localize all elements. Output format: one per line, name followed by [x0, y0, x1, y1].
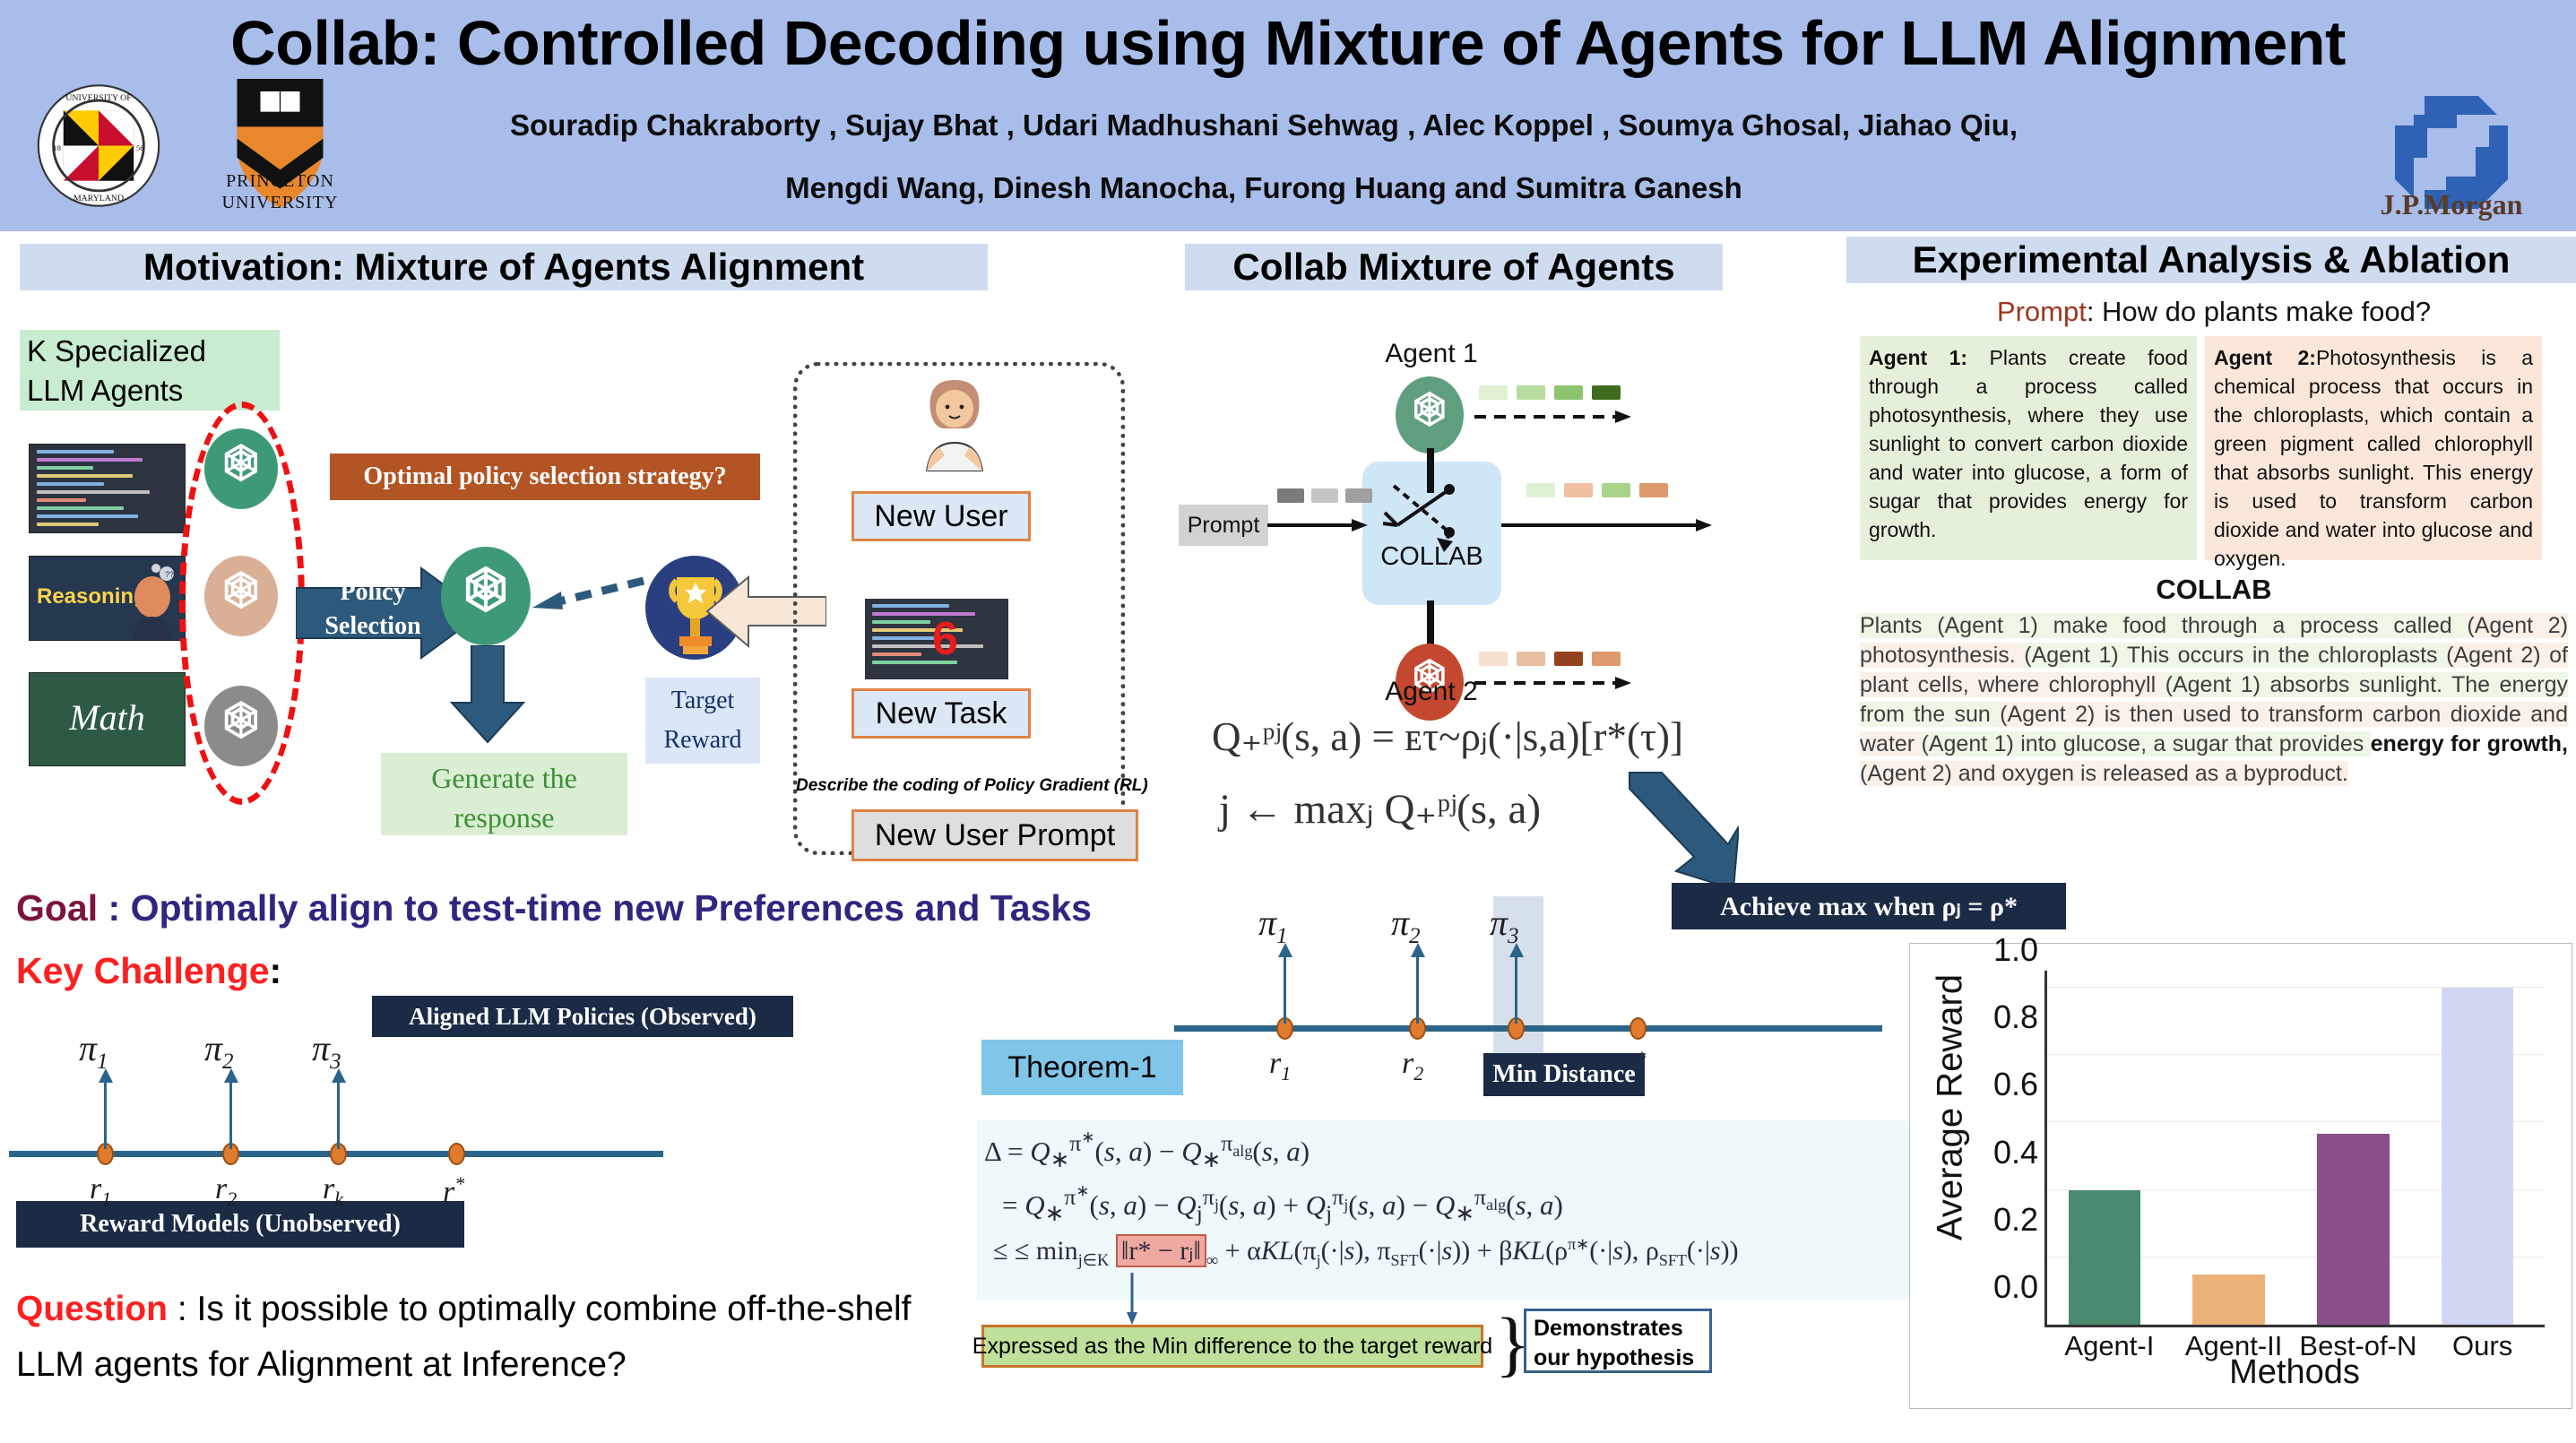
policy-selection-label: Policy Selection [301, 575, 445, 644]
theorem-line-3: ≤ ≤ minj∈K ‖r* − rⱼ‖∞ + αKL(πj(·|s), πSF… [993, 1235, 1739, 1271]
openai-glyph-icon [455, 563, 516, 624]
agent-logo-reasoning [204, 556, 278, 636]
router-switch-icon [1367, 466, 1501, 565]
princeton-logo-caption: PRINCETON UNIVERSITY [215, 170, 345, 213]
collab-text-segment: This occurs in the chloroplasts [2127, 643, 2446, 668]
chart-y-axis-label: Average Reward [1931, 960, 1971, 1256]
princeton-caption-line2: UNIVERSITY [215, 192, 345, 213]
agent1-response-label: Agent 1: [1869, 346, 1967, 369]
chart-plot-area: 0.00.20.40.60.81.0Agent-IAgent-IIBest-of… [2044, 971, 2545, 1327]
target-line1: Target [645, 681, 760, 721]
new-user-prompt-label: New User Prompt [851, 809, 1138, 861]
label-rk: rk [323, 1172, 343, 1211]
goal-text: : Optimally align to test-time new Prefe… [98, 887, 1092, 929]
chart-x-axis-label: Methods [2044, 1353, 2545, 1392]
poster-header: Collab: Controlled Decoding using Mixtur… [0, 0, 2576, 231]
collab-text-segment: (Agent 2) [2467, 613, 2568, 638]
stem-pi3 [337, 1076, 340, 1149]
svg-text:UNIVERSITY OF: UNIVERSITY OF [65, 93, 132, 103]
key-challenge-text: : [270, 950, 282, 991]
chart-bar [2317, 1134, 2389, 1325]
label-r1: r1 [1269, 1047, 1291, 1085]
openai-glyph-icon [216, 698, 266, 748]
label-pi3: π3 [312, 1027, 341, 1075]
agent2-token-1 [1479, 652, 1508, 666]
prompt-question: : How do plants make food? [2087, 296, 2431, 327]
label-pi1: π1 [1258, 902, 1288, 949]
output-arrow-icon [1501, 518, 1712, 532]
policy-arrow-line2: Selection [301, 609, 445, 644]
agent2-response-box: Agent 2:Photosynthesis is a chemical pro… [2205, 336, 2542, 560]
question-statement: Question : Is it possible to optimally c… [16, 1282, 966, 1393]
princeton-caption-line1: PRINCETON [215, 170, 345, 192]
agent1-label: Agent 1 [1342, 339, 1521, 369]
collab-output-text: Plants (Agent 1) make food through a pro… [1860, 611, 2568, 789]
equation-q-value: Q₊ᵖʲ(s, a) = ᴇτ~ρⱼ(·|s,a)[r*(τ)] [1212, 713, 1683, 760]
label-pi2: π2 [204, 1027, 234, 1075]
agent2-token-2 [1517, 652, 1545, 666]
collab-text-segment: (Agent 1) [2165, 672, 2270, 697]
target-line2: Reward [645, 721, 760, 760]
section-header-experimental: Experimental Analysis & Ablation [1846, 237, 2576, 283]
collab-text-segment: (Agent 2) [1860, 761, 1958, 786]
theorem-line-1: Δ = Q∗π∗(s, a) − Q∗πalg(s, a) [984, 1128, 1310, 1173]
theorem-min-op: ≤ min [1015, 1236, 1078, 1266]
user-avatar-icon [905, 373, 1004, 471]
section-header-motivation: Motivation: Mixture of Agents Alignment [20, 244, 988, 290]
umd-logo-icon: UNIVERSITY OF MARYLAND 18 56 [36, 81, 161, 211]
label-r2: r2 [1402, 1047, 1423, 1085]
math-thumbnail: Math [29, 672, 186, 766]
agent1-token-2 [1517, 385, 1545, 400]
stem-pi2 [1416, 950, 1419, 1024]
label-r2: r2 [215, 1172, 237, 1211]
collab-text-segment: photosynthesis. [1860, 643, 2024, 668]
authors-line-1: Souradip Chakraborty , Sujay Bhat , Udar… [305, 94, 2223, 157]
agent2-token-3 [1554, 652, 1583, 666]
page-title: Collab: Controlled Decoding using Mixtur… [0, 7, 2576, 79]
average-reward-bar-chart: Average Reward 0.00.20.40.60.81.0Agent-I… [1909, 943, 2572, 1409]
task-number-badge: 6 [932, 599, 958, 679]
collab-text-segment: Plants [1860, 613, 1937, 638]
code-lines-decoration [37, 450, 177, 527]
output-token-3 [1602, 483, 1630, 497]
new-task-label: New Task [851, 688, 1031, 739]
collab-text-segment: (Agent 1) [2024, 643, 2127, 668]
experiment-prompt: Prompt: How do plants make food? [1860, 296, 2568, 328]
collab-text-segment: into glucose, a sugar that provides [2020, 731, 2370, 756]
section-header-collab: Collab Mixture of Agents [1185, 244, 1723, 290]
goal-keyword: Goal [16, 887, 98, 929]
agent2-label: Agent 2 [1342, 677, 1521, 707]
openai-glyph-icon [1406, 389, 1453, 436]
chart-y-tick-label: 0.0 [1993, 1268, 2038, 1306]
collab-text-segment: and oxygen is released as a byproduct. [1958, 761, 2348, 786]
chart-y-tick-label: 0.4 [1993, 1134, 2038, 1171]
agent1-logo [1396, 376, 1464, 454]
poster-root: Collab: Controlled Decoding using Mixtur… [0, 0, 2576, 1443]
agent1-output-arrow-icon [1474, 408, 1631, 426]
agent2-response-text: Photosynthesis is a chemical process tha… [2214, 346, 2533, 570]
agent1-token-3 [1554, 385, 1583, 400]
banner-min-distance: Min Distance [1483, 1053, 1645, 1096]
banner-reward-models: Reward Models (Unobserved) [16, 1201, 464, 1248]
jpmorgan-logo-caption: J.P.Morgan [2357, 188, 2546, 221]
collab-text-segment: energy for growth, [2371, 731, 2568, 756]
k-agents-line1: K Specialized [27, 332, 272, 371]
chart-y-tick-label: 0.6 [1993, 1066, 2038, 1103]
reasoning-thumbnail: Reasoning ?? [29, 556, 186, 641]
output-token-4 [1639, 483, 1668, 497]
svg-text:??: ?? [165, 570, 174, 579]
min-difference-note: Expressed as the Min difference to the t… [981, 1325, 1483, 1368]
chart-y-tick-label: 0.2 [1993, 1201, 2038, 1239]
demonstrates-hypothesis-note: Demonstrates our hypothesis [1524, 1309, 1712, 1373]
label-r1: r1 [90, 1172, 111, 1211]
thinking-person-icon: ?? [117, 563, 181, 640]
optimal-policy-banner: Optimal policy selection strategy? [330, 454, 760, 500]
agent1-token-4 [1592, 385, 1621, 400]
prompt-in-arrow-icon [1267, 518, 1368, 532]
chart-bar [2442, 988, 2513, 1325]
goal-statement: Goal : Optimally align to test-time new … [16, 887, 1163, 929]
generate-line1: Generate the [381, 758, 627, 798]
code-thumbnail [29, 444, 186, 533]
down-arrow-icon [448, 645, 527, 744]
new-user-label: New User [851, 491, 1031, 541]
target-reward-box: Target Reward [645, 678, 760, 764]
prompt-token-2 [1311, 488, 1338, 503]
number-line-dot-rstar [448, 1143, 465, 1165]
label-rstar: r* [443, 1172, 464, 1209]
label-pi2: π2 [1391, 902, 1421, 949]
flow-down-right-arrow-icon [1622, 771, 1739, 892]
chart-y-tick-label: 0.8 [1993, 998, 2038, 1036]
svg-text:MARYLAND: MARYLAND [73, 194, 124, 203]
agent-logo-coding [204, 428, 278, 509]
agent1-response-box: Agent 1: Plants create food through a pr… [1860, 336, 2197, 560]
collab-output-title: COLLAB [1860, 574, 2568, 606]
number-line-dot-rstar [1629, 1017, 1647, 1040]
chart-y-tick-label: 1.0 [1993, 931, 2038, 969]
label-pi1: π1 [79, 1027, 108, 1075]
math-thumbnail-label: Math [30, 696, 185, 739]
describe-caption: Describe the coding of Policy Gradient (… [796, 776, 1128, 796]
output-token-1 [1526, 483, 1555, 497]
reward-number-line-left: π1 π2 π3 r1 r2 rk r* [0, 1022, 681, 1201]
theorem-min-index: j∈K [1078, 1251, 1110, 1270]
prompt-keyword: Prompt [1997, 296, 2087, 327]
reward-number-line-middle: π1 π2 π3 r1 r2 rk r* [1165, 896, 1882, 1076]
theorem-callout-arrow-icon [1125, 1273, 1139, 1326]
chart-bar [2192, 1275, 2264, 1325]
prompt-token-1 [1277, 488, 1304, 503]
theorem-highlight-term: ‖r* − rⱼ‖ [1116, 1234, 1206, 1267]
demo-line1: Demonstrates [1534, 1314, 1702, 1344]
agent1-token-1 [1479, 385, 1508, 400]
openai-glyph-icon [216, 441, 266, 491]
label-pi3: π3 [1490, 902, 1519, 949]
generate-line2: response [381, 798, 627, 837]
stem-pi2 [229, 1076, 232, 1149]
stem-pi1 [104, 1076, 107, 1149]
generate-response-box: Generate the response [381, 753, 627, 835]
collab-text-segment: (Agent 1) [1922, 731, 2021, 756]
theorem-line-2: = Q∗π∗(s, a) − Qjπj(s, a) + Qjπj(s, a) −… [1002, 1181, 1563, 1227]
authors-line-2: Mengdi Wang, Dinesh Manocha, Furong Huan… [305, 157, 2223, 220]
reward-feedback-arrow-icon [531, 574, 647, 615]
output-token-2 [1564, 483, 1593, 497]
agent-logo-math [204, 686, 278, 766]
agent2-token-4 [1592, 652, 1621, 666]
openai-glyph-icon [216, 568, 266, 618]
selected-agent-logo [441, 547, 531, 645]
key-challenge-keyword: Key Challenge [16, 950, 270, 991]
collab-text-segment: (Agent 1) [1937, 613, 2053, 638]
collab-text-segment: (Agent 2) [2446, 643, 2549, 668]
theorem-tag: Theorem-1 [981, 1040, 1183, 1095]
policy-arrow-line1: Policy [301, 575, 445, 609]
theorem-line3-rest: + αKL(πj(·|s), πSFT(·|s)) + βKL(ρπ∗(·|s)… [1225, 1236, 1739, 1266]
question-keyword: Question [16, 1290, 168, 1328]
authors-block: Souradip Chakraborty , Sujay Bhat , Udar… [305, 94, 2223, 220]
svg-text:56: 56 [136, 144, 143, 152]
k-specialized-agents-box: K Specialized LLM Agents [20, 330, 280, 410]
stem-pi3 [1515, 950, 1517, 1024]
collab-text-segment: make food through a process called [2053, 613, 2468, 638]
stem-pi1 [1284, 950, 1286, 1024]
prompt-chip: Prompt [1179, 505, 1268, 546]
key-challenge-statement: Key Challenge: [16, 950, 281, 992]
collab-text-segment: (Agent 2) [2000, 702, 2105, 727]
svg-text:18: 18 [54, 144, 61, 152]
equation-argmax: j ← maxⱼ Q₊ᵖʲ(s, a) [1219, 784, 1541, 834]
prompt-token-3 [1345, 488, 1372, 503]
agent2-response-label: Agent 2: [2214, 346, 2316, 369]
agent1-response-text: Plants create food through a process cal… [1869, 346, 2188, 541]
chart-bar [2069, 1190, 2140, 1325]
demo-line2: our hypothesis [1534, 1344, 1702, 1373]
